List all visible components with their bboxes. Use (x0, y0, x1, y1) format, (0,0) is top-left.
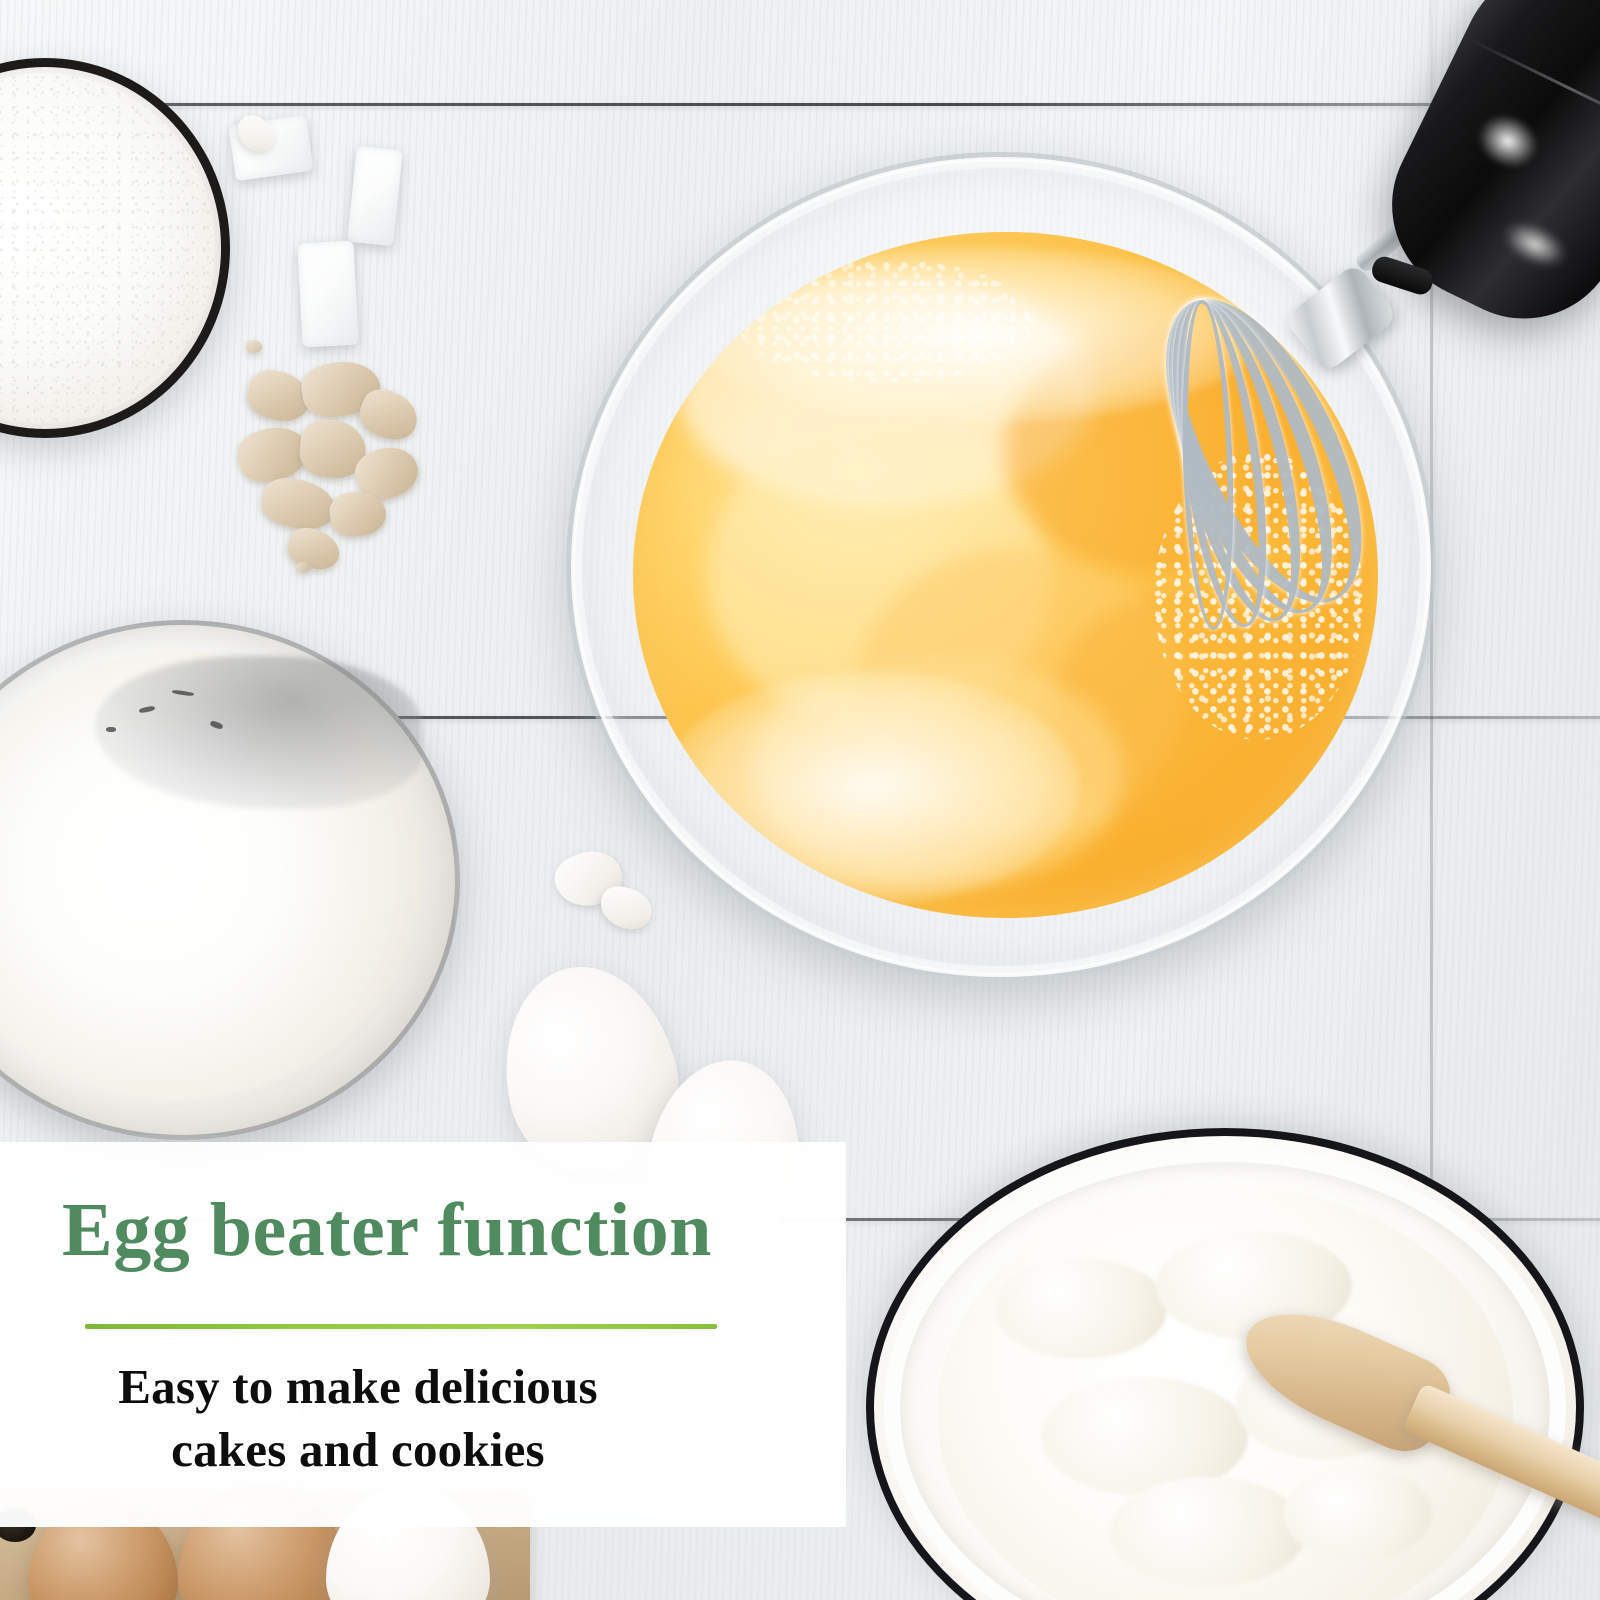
page-title: Egg beater function (62, 1192, 712, 1268)
yeast-crumb-small (296, 562, 310, 573)
sugar-grain-texture (0, 73, 215, 423)
product-scene: Egg beater function Easy to make delicio… (0, 0, 1600, 1600)
flour-lump (1283, 1468, 1433, 1559)
yeast-crumb-small (246, 340, 262, 353)
flour-lump (1110, 1477, 1306, 1587)
subtitle-line-1: Easy to make delicious (0, 1356, 716, 1419)
plank-seam (0, 103, 1600, 106)
text-overlay-panel: Egg beater function Easy to make delicio… (0, 1142, 846, 1527)
whisk-attachment (975, 300, 1405, 720)
title-divider (85, 1324, 717, 1329)
sugar-cube (297, 241, 358, 348)
flour-speck (106, 727, 116, 732)
subtitle-line-2: cakes and cookies (0, 1419, 716, 1482)
subtitle-text: Easy to make delicious cakes and cookies (0, 1356, 846, 1481)
flour-lump (995, 1258, 1168, 1359)
